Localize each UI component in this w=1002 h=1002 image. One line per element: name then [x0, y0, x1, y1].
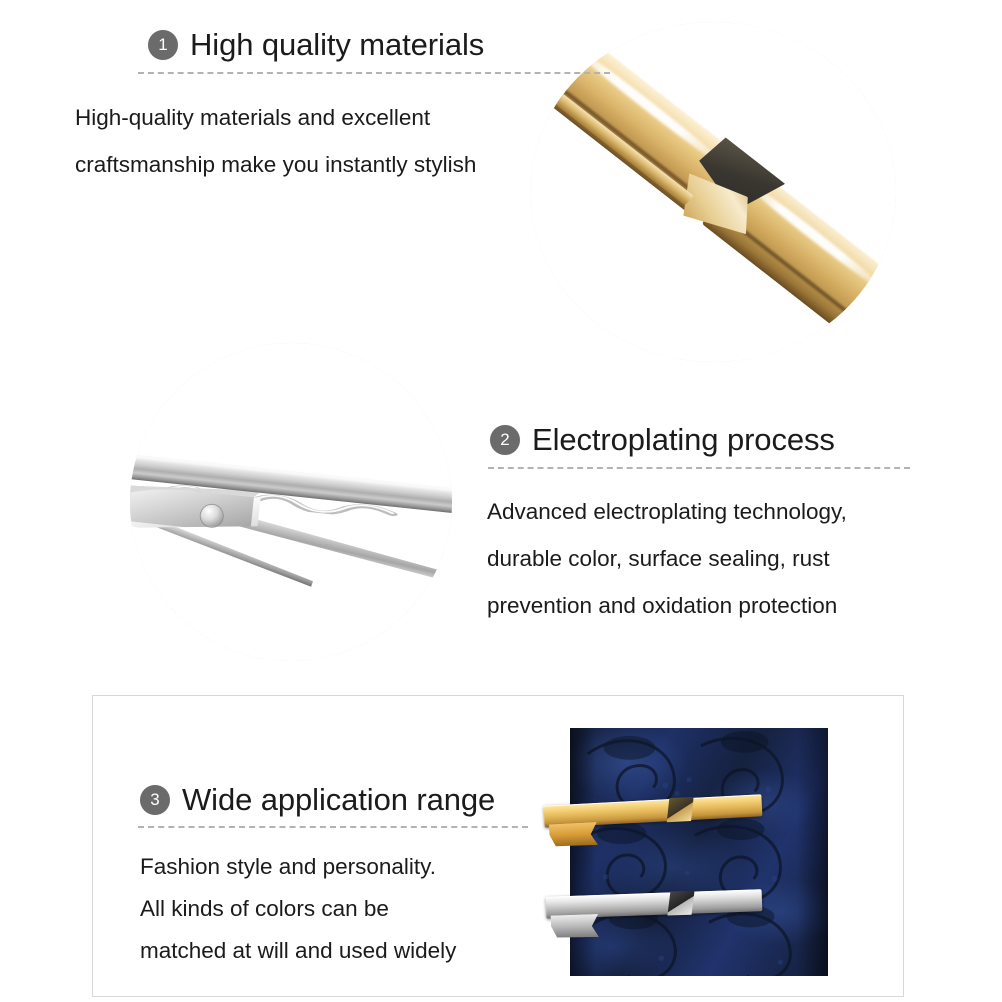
section-2-body-line-2: durable color, surface sealing, rust — [487, 535, 830, 582]
silver-tie-clip-photo — [130, 343, 452, 661]
gold-mini-clasp — [549, 822, 598, 848]
paisley-pattern — [570, 728, 828, 976]
section-3-number-badge: 3 — [140, 785, 170, 815]
section-2-title: Electroplating process — [532, 422, 835, 458]
infographic-page: 1 High quality materials High-quality ma… — [0, 0, 1002, 1002]
section-3-body-line-1: Fashion style and personality. — [140, 843, 436, 890]
section-1-title: High quality materials — [190, 27, 484, 63]
section-2-number-badge: 2 — [490, 425, 520, 455]
section-2-heading: 2 Electroplating process — [490, 422, 835, 458]
tie-left-shadow — [570, 728, 596, 976]
section-2-divider — [488, 467, 910, 469]
section-1-number-badge: 1 — [148, 30, 178, 60]
silver-photo-inner — [130, 343, 452, 661]
silver-mini-twist — [667, 890, 696, 916]
silver-tie-clip-graphic — [130, 449, 452, 548]
section-2-body-line-3: prevention and oxidation protection — [487, 582, 837, 629]
gold-mini-twist — [665, 797, 695, 823]
section-1-body-line-2: craftsmanship make you instantly stylish — [75, 141, 476, 188]
section-3-title: Wide application range — [182, 782, 495, 818]
navy-paisley-tie-fabric — [570, 728, 828, 976]
silver-mini-clasp — [551, 914, 599, 939]
section-3-divider — [138, 826, 528, 828]
section-1-divider — [138, 72, 610, 74]
tie-clips-on-navy-tie-photo — [522, 728, 876, 976]
section-1-heading: 1 High quality materials — [148, 27, 484, 63]
section-2-body-line-1: Advanced electroplating technology, — [487, 488, 847, 535]
section-3-heading: 3 Wide application range — [140, 782, 495, 818]
section-1-body-line-1: High-quality materials and excellent — [75, 94, 430, 141]
section-3-body-line-2: All kinds of colors can be — [140, 885, 389, 932]
section-3-body-line-3: matched at will and used widely — [140, 927, 456, 974]
tie-right-shadow — [797, 728, 828, 976]
